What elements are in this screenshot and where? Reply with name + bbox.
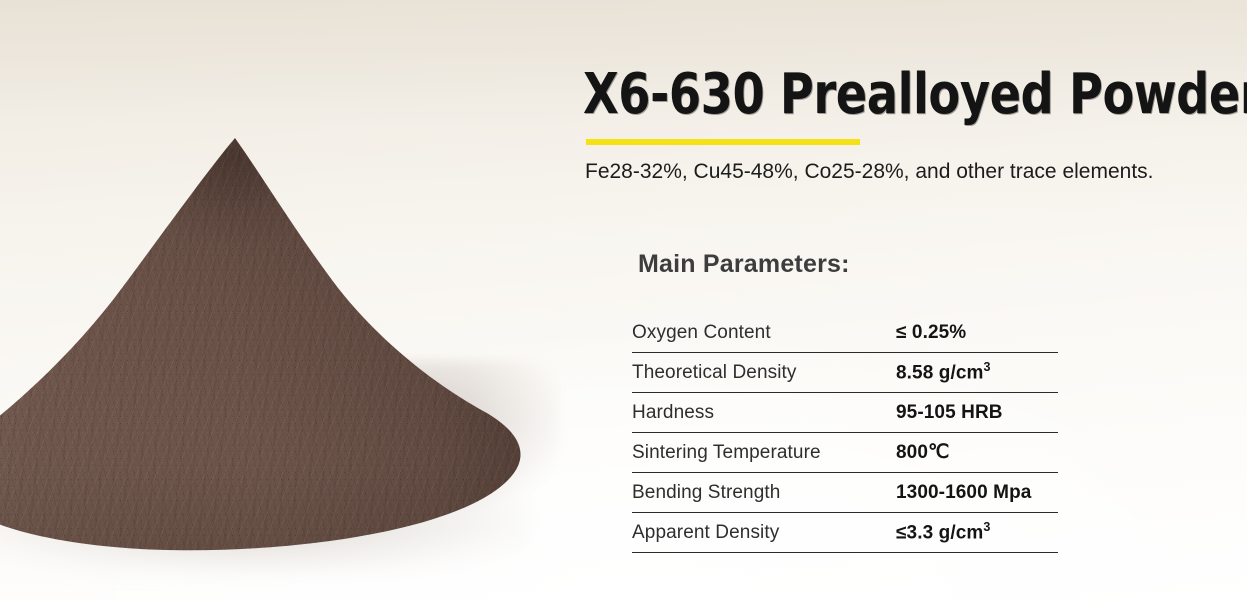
param-value: ≤3.3 g/cm3	[894, 520, 1058, 544]
table-row: Bending Strength 1300-1600 Mpa	[632, 473, 1058, 513]
param-label: Sintering Temperature	[632, 442, 894, 464]
param-label: Apparent Density	[632, 522, 894, 544]
table-row: Oxygen Content ≤ 0.25%	[632, 313, 1058, 353]
main-parameters-heading: Main Parameters:	[638, 250, 850, 279]
main-parameters-table: Oxygen Content ≤ 0.25% Theoretical Densi…	[632, 313, 1058, 553]
powder-product-photo	[0, 110, 600, 590]
composition-text: Fe28-32%, Cu45-48%, Co25-28%, and other …	[585, 158, 1154, 186]
param-label: Bending Strength	[632, 482, 894, 504]
title-accent-rule	[586, 139, 860, 145]
param-value: 1300-1600 Mpa	[894, 482, 1058, 504]
param-label: Oxygen Content	[632, 322, 894, 344]
param-value: ≤ 0.25%	[894, 322, 1058, 344]
powder-scattered-specks	[340, 410, 570, 550]
product-banner: X6-630 Prealloyed Powder Fe28-32%, Cu45-…	[0, 0, 1247, 600]
param-value: 95-105 HRB	[894, 402, 1058, 424]
param-value: 800℃	[894, 441, 1058, 464]
param-label: Hardness	[632, 402, 894, 424]
table-row: Theoretical Density 8.58 g/cm3	[632, 353, 1058, 393]
table-row: Hardness 95-105 HRB	[632, 393, 1058, 433]
param-value: 8.58 g/cm3	[894, 360, 1058, 384]
product-title: X6-630 Prealloyed Powder	[583, 66, 1209, 124]
table-row: Apparent Density ≤3.3 g/cm3	[632, 513, 1058, 553]
param-label: Theoretical Density	[632, 362, 894, 384]
table-row: Sintering Temperature 800℃	[632, 433, 1058, 473]
